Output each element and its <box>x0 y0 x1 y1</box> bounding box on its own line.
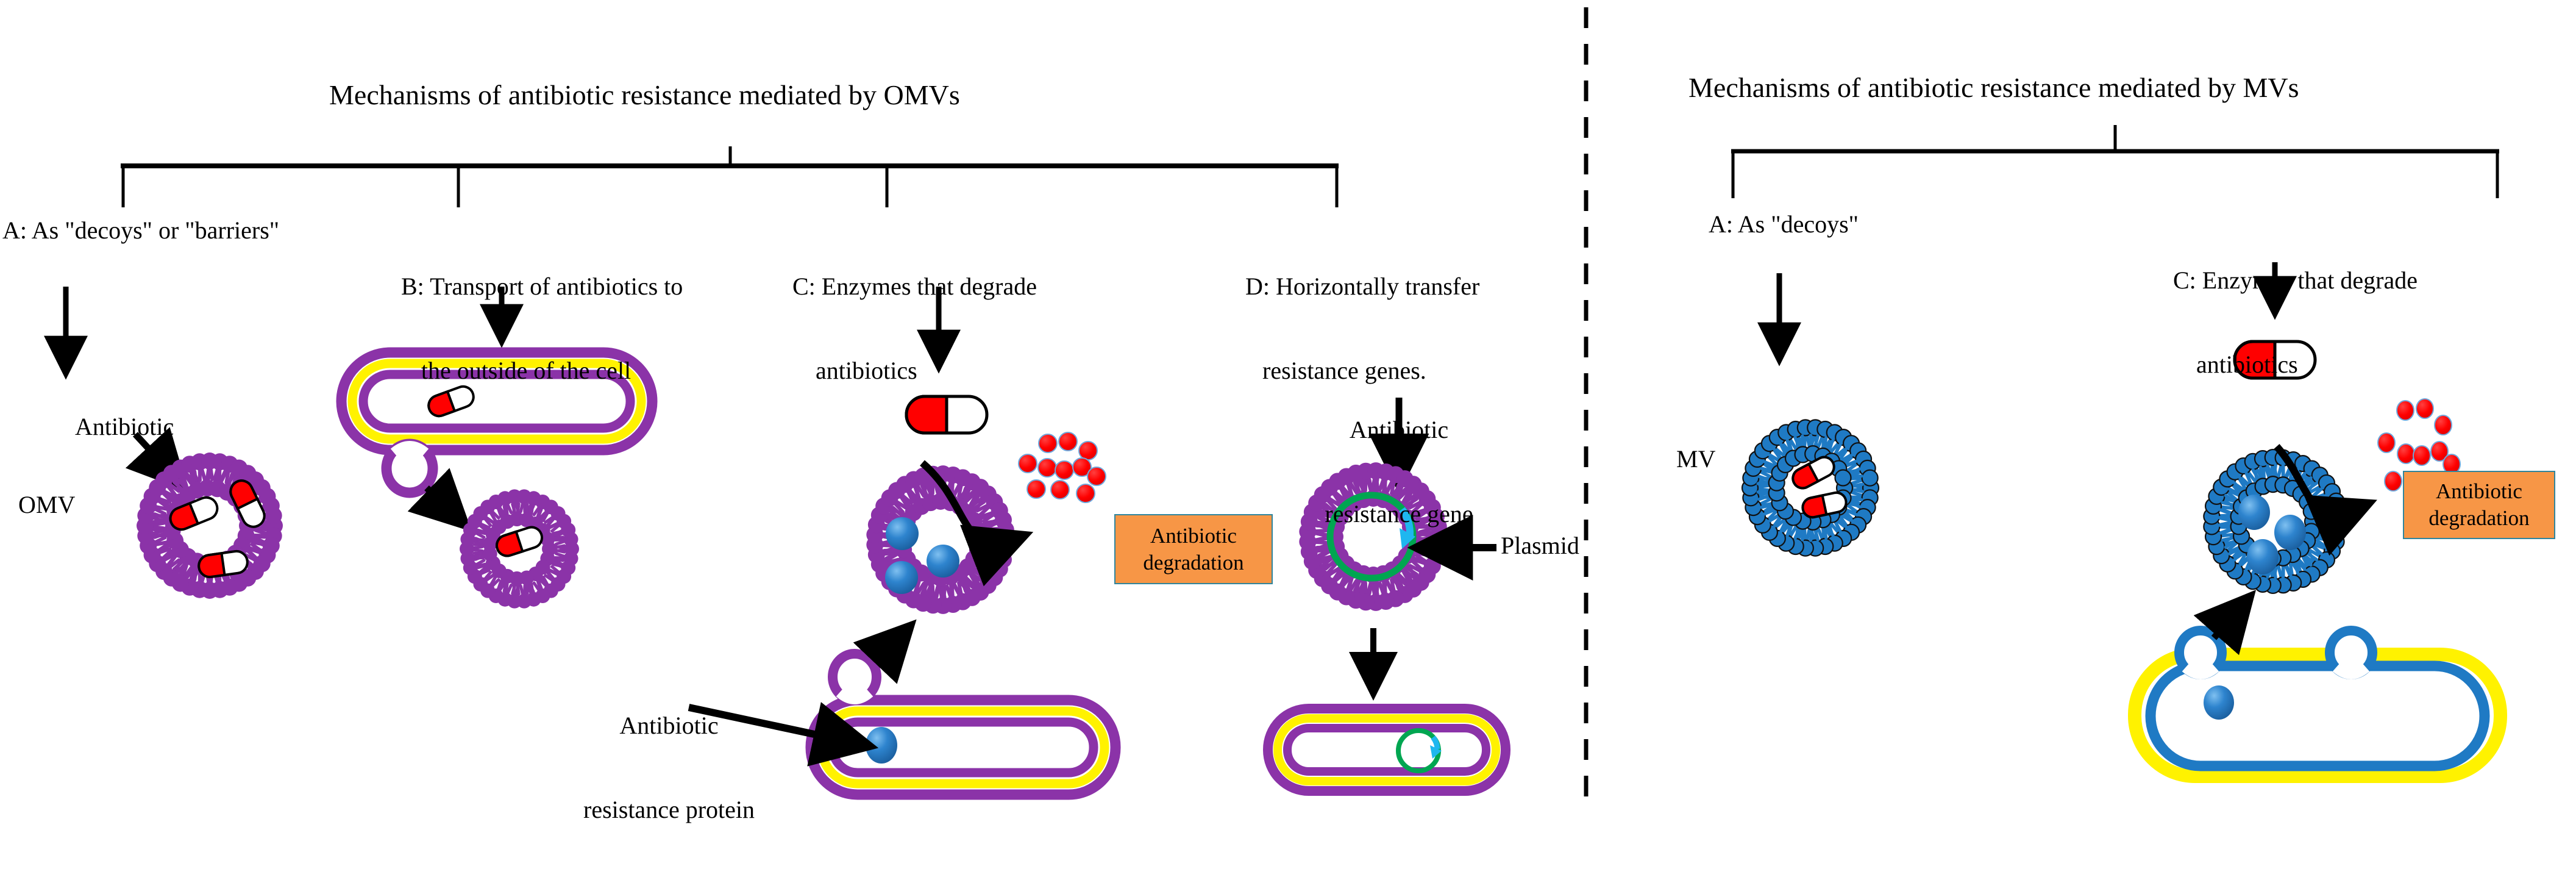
figure-canvas: Mechanisms of antibiotic resistance medi… <box>0 0 2576 808</box>
arrow-rc-vesicle-release <box>2214 599 2248 638</box>
label-mv: MV <box>1676 445 1715 473</box>
antibiotic-degradation-box-left: Antibiotic degradation <box>1114 514 1273 584</box>
degradation-box-right-line2: degradation <box>2428 505 2529 532</box>
arrow-b-budding <box>427 488 463 523</box>
caption-c-line1: C: Enzymes that degrade <box>792 273 1037 301</box>
caption-c-left: C: Enzymes that degrade antibiotics <box>792 216 1037 441</box>
caption-a-right: A: As "decoys" <box>1709 210 1859 238</box>
gram-positive-cell <box>2135 631 2500 776</box>
label-resistance-gene-line1: Antibiotic <box>1280 416 1518 444</box>
right-panel-title: Mechanisms of antibiotic resistance medi… <box>1688 72 2299 104</box>
degradation-box-right-line1: Antibiotic <box>2436 478 2522 505</box>
caption-b-left: B: Transport of antibiotics to the outsi… <box>401 216 651 441</box>
right-bracket <box>1731 125 2499 198</box>
degraded-antibiotic-dots-c <box>1019 432 1106 503</box>
label-plasmid: Plasmid <box>1501 532 1579 560</box>
label-omv: OMV <box>18 491 75 519</box>
left-bracket <box>121 146 1339 207</box>
caption-b-line2: the outside of the cell <box>401 357 651 385</box>
caption-b-line1: B: Transport of antibiotics to <box>401 273 651 301</box>
label-resistance-protein-line1: Antibiotic <box>543 712 795 740</box>
caption-d-line1: D: Horizontally transfer <box>1245 273 1479 301</box>
label-resistance-gene-line2: resistance gene <box>1280 500 1518 528</box>
label-antibiotic: Antibiotic <box>75 413 174 441</box>
gram-negative-cell-c <box>811 654 1115 795</box>
mv-vesicle-decoy <box>1742 420 1879 556</box>
caption-c-right-line2: antibiotics <box>2173 351 2418 379</box>
mv-vesicle-enzymes <box>2204 449 2347 593</box>
caption-c-right: C: Enzymes that degrade antibiotics <box>2173 210 2418 435</box>
caption-c-right-line1: C: Enzymes that degrade <box>2173 267 2418 295</box>
caption-c-line2: antibiotics <box>792 357 1037 385</box>
degradation-box-left-line2: degradation <box>1143 549 1244 576</box>
caption-a-left: A: As "decoys" or "barriers" <box>2 216 279 245</box>
left-panel-title: Mechanisms of antibiotic resistance medi… <box>329 79 960 112</box>
label-resistance-gene: Antibiotic resistance gene <box>1280 360 1518 584</box>
degradation-box-left-line1: Antibiotic <box>1150 523 1237 549</box>
gram-negative-cell-d <box>1268 709 1506 791</box>
label-resistance-protein: Antibiotic resistance protein <box>543 656 795 880</box>
antibiotic-degradation-box-right: Antibiotic degradation <box>2403 471 2555 539</box>
label-resistance-protein-line2: resistance protein <box>543 796 795 824</box>
arrow-c-vesicle-release <box>877 628 908 662</box>
